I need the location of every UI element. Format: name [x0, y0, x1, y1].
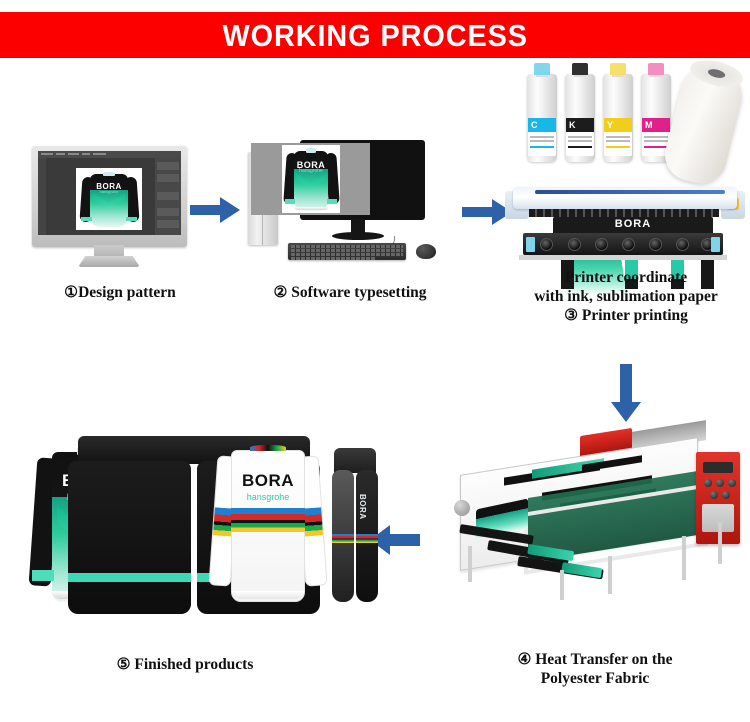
- typesetting-canvas: BORA hansgrohe: [282, 145, 340, 213]
- sublimation-paper-roll: [660, 59, 749, 188]
- jersey-collar: [103, 172, 115, 176]
- tights-left-rainbow-band: [332, 534, 354, 543]
- step-2-caption: ② Software typesetting: [250, 283, 450, 302]
- machine-knob: [716, 479, 724, 487]
- machine-knob: [722, 491, 730, 499]
- keyboard: [288, 243, 406, 260]
- tights-left-leg: [68, 461, 190, 614]
- monitor-stand-base: [78, 256, 140, 267]
- tights-waistband: [334, 448, 376, 473]
- machine-leg: [560, 570, 564, 600]
- jersey-collar: [306, 148, 317, 152]
- software-menubar: [38, 151, 181, 158]
- jersey-right-cuff: [327, 199, 338, 203]
- mouse: [416, 244, 436, 259]
- software-toolbar: [38, 158, 46, 235]
- jersey-design-preview: BORA hansgrohe: [80, 171, 138, 227]
- step-5-finished-products-illustration: BORA hansgrohe BORA BORA han: [24, 436, 364, 614]
- machine-leg: [718, 522, 722, 564]
- jersey-brand-text: BORA: [212, 471, 324, 491]
- machine-feed-roller: [454, 500, 470, 516]
- ink-letter-c: C: [531, 118, 538, 132]
- tights-right-rainbow-band: [356, 534, 378, 543]
- ink-bottle-black: K: [565, 74, 595, 162]
- jersey-hem: [294, 207, 329, 210]
- arrow-step3-to-step4-icon: [611, 364, 641, 422]
- ink-letter-k: K: [569, 118, 576, 132]
- jersey-sponsor-text: hansgrohe: [212, 492, 324, 502]
- wide-format-printer: BORA: [505, 187, 745, 262]
- jersey-left-cuff: [81, 217, 93, 221]
- working-process-infographic: WORKING PROCESS: [0, 0, 750, 722]
- step-4-heat-transfer-illustration: [432, 424, 748, 614]
- step-3-caption-line-2: with ink, sublimation paper: [508, 287, 744, 306]
- step-4-caption-line-1: ④ Heat Transfer on the: [440, 650, 750, 669]
- ink-letter-y: Y: [607, 118, 613, 132]
- page-title: WORKING PROCESS: [222, 20, 527, 51]
- ink-bottle-yellow: Y: [603, 74, 633, 162]
- machine-display: [703, 462, 733, 473]
- step-3-printer-illustration: C K Y: [505, 62, 745, 262]
- jersey-hem: [232, 591, 304, 599]
- page-title-banner: WORKING PROCESS: [0, 12, 750, 58]
- step-2-software-typesetting-illustration: BORA hansgrohe: [248, 140, 453, 270]
- step-1-caption: ①Design pattern: [0, 283, 240, 302]
- jersey-typeset-preview: BORA hansgrohe: [284, 147, 338, 211]
- ink-letter-m: M: [645, 118, 653, 132]
- printer-accent-stripe: [535, 190, 725, 194]
- pc-monitor-screen: BORA hansgrohe: [251, 143, 370, 215]
- ink-bottle-cyan: C: [527, 74, 557, 162]
- product-grey-black-tights: BORA: [324, 448, 386, 602]
- tights-left-cuff-band: [68, 573, 190, 582]
- printer-top-cover: [513, 187, 737, 209]
- monitor-screen: BORA hansgrohe: [38, 151, 181, 235]
- jersey-left-cuff: [285, 199, 296, 203]
- step-4-caption-line-2: Polyester Fabric: [440, 669, 750, 688]
- tights-brand-text: BORA: [358, 494, 367, 520]
- machine-leg: [608, 556, 612, 594]
- printer-base-stand: [519, 255, 727, 260]
- step-3-caption-line-1: Printer coordinate: [508, 268, 744, 287]
- step-3-caption-line-3: ③ Printer printing: [508, 306, 744, 325]
- jersey-sponsor-text: hansgrohe: [284, 168, 338, 174]
- printer-carriage-rail: [529, 209, 719, 217]
- software-panels: [155, 158, 181, 235]
- arrow-step1-to-step2-icon: [190, 197, 240, 223]
- design-canvas: BORA hansgrohe: [76, 168, 142, 230]
- machine-knob: [728, 479, 736, 487]
- step-1-design-pattern-illustration: BORA hansgrohe: [32, 146, 187, 271]
- jersey-sponsor-text: hansgrohe: [80, 189, 138, 194]
- jersey-right-cuff: [126, 217, 138, 221]
- printed-brand-text: BORA: [553, 218, 713, 230]
- machine-knob: [704, 479, 712, 487]
- jersey-rainbow-bands: [231, 508, 305, 532]
- step-5-caption: ⑤ Finished products: [40, 655, 330, 674]
- printer-dryer-bar: [523, 233, 723, 255]
- jersey-rainbow-collar: [250, 445, 286, 451]
- product-white-rainbow-jersey: BORA hansgrohe: [212, 440, 324, 602]
- machine-leg: [682, 536, 686, 580]
- machine-leg: [468, 546, 472, 582]
- machine-knob: [710, 491, 718, 499]
